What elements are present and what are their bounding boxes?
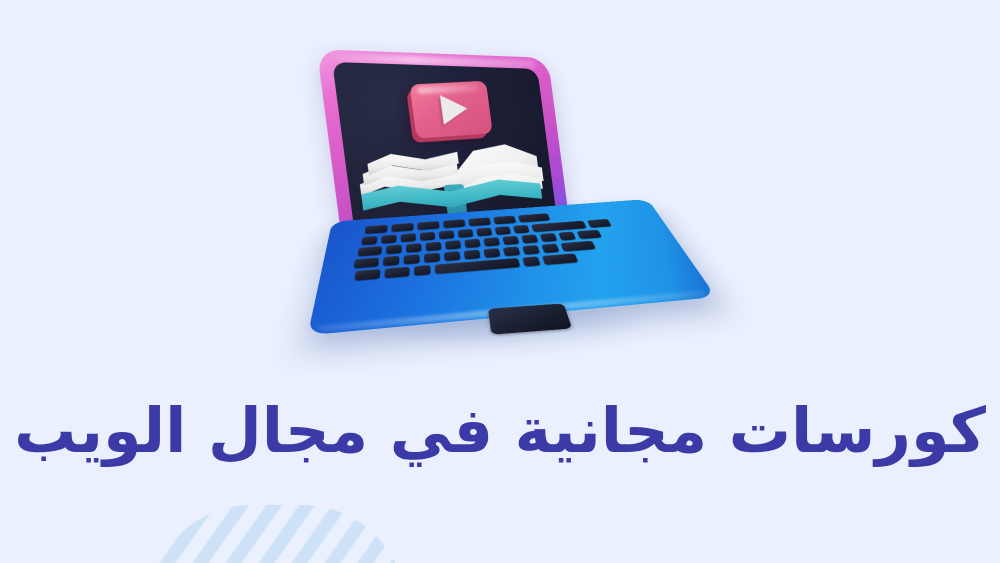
key — [522, 245, 540, 255]
play-button-icon — [410, 81, 493, 139]
key — [464, 239, 480, 248]
key — [381, 234, 397, 243]
key — [560, 241, 595, 252]
key — [476, 228, 492, 237]
striped-arc-decoration — [148, 505, 406, 563]
play-triangle-icon — [440, 94, 469, 125]
key — [521, 234, 538, 243]
key — [361, 236, 377, 245]
key — [401, 233, 416, 242]
key — [404, 254, 420, 264]
key — [406, 243, 422, 253]
key — [483, 248, 500, 258]
key — [418, 221, 440, 230]
key — [503, 246, 520, 256]
page-title: كورسات مجانية في مجال الويب — [0, 398, 1000, 465]
key — [587, 219, 612, 228]
key — [458, 229, 474, 238]
key — [518, 213, 550, 222]
key — [354, 257, 379, 268]
key — [424, 253, 440, 263]
key — [540, 233, 558, 242]
key — [365, 225, 388, 234]
key — [386, 245, 402, 255]
key — [445, 240, 461, 249]
key — [383, 256, 399, 266]
key — [513, 225, 530, 234]
key — [558, 232, 576, 241]
key — [495, 226, 511, 235]
key — [577, 230, 602, 239]
key — [391, 223, 413, 232]
trackpad — [488, 303, 572, 334]
key — [426, 242, 442, 251]
key — [414, 265, 431, 276]
key — [439, 230, 455, 239]
laptop-illustration — [330, 24, 678, 354]
laptop-base — [336, 210, 654, 360]
key — [493, 216, 516, 225]
key — [483, 237, 500, 246]
key — [522, 256, 540, 266]
key — [464, 250, 481, 260]
key — [541, 243, 559, 253]
key — [443, 219, 465, 228]
key — [468, 217, 491, 226]
key — [502, 236, 519, 245]
banner-canvas: كورسات مجانية في مجال الويب — [0, 0, 1000, 563]
key — [444, 251, 461, 261]
key — [420, 232, 435, 241]
key — [358, 246, 382, 256]
